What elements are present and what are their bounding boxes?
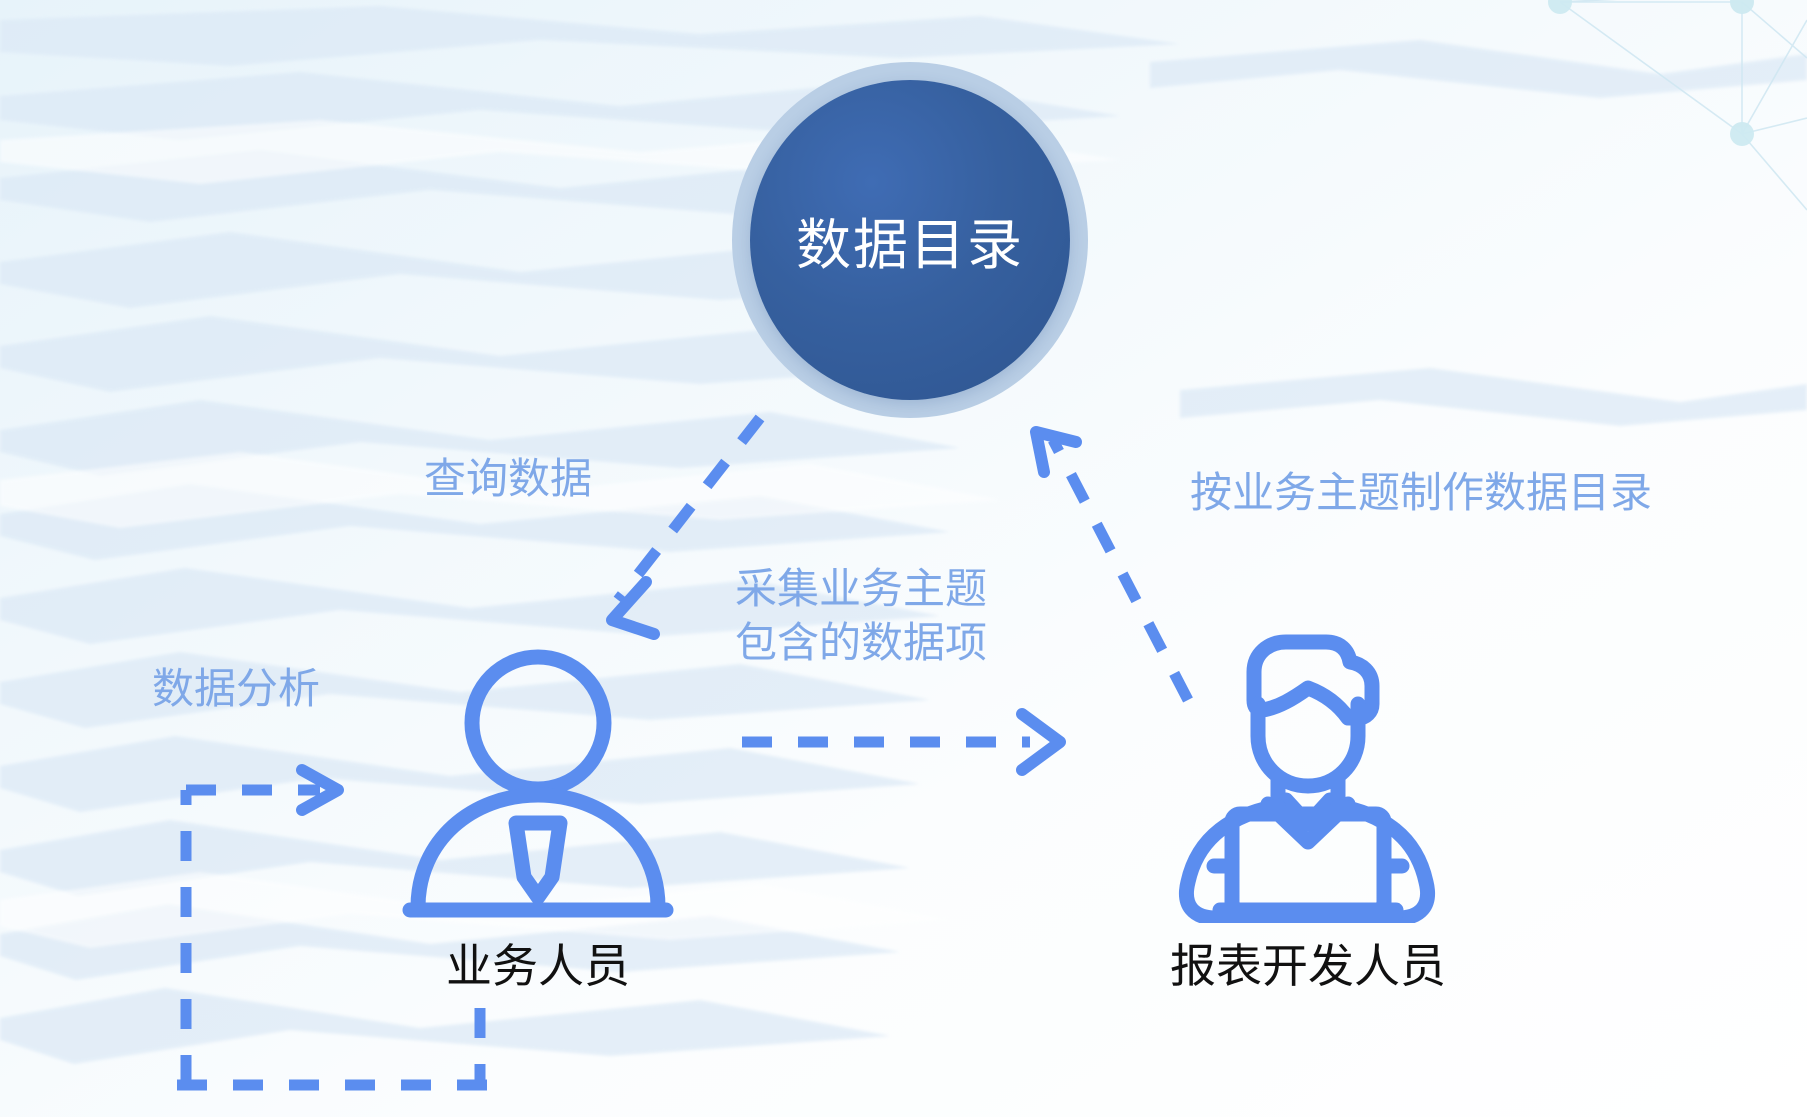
business-user-icon-wrap[interactable]	[398, 645, 678, 920]
person-with-tie-icon	[398, 645, 678, 920]
diagram-canvas: 数据目录	[0, 0, 1807, 1117]
report-developer-icon-wrap[interactable]	[1158, 618, 1458, 923]
connector-edges	[0, 0, 1807, 1117]
report-developer-label: 报表开发人员	[1108, 930, 1508, 996]
arrowhead-query-data	[612, 582, 654, 634]
edge-label-collect-items-line2: 包含的数据项	[735, 616, 1055, 670]
business-user-label: 业务人员	[398, 930, 678, 996]
person-with-laptop-icon	[1158, 618, 1458, 923]
edge-label-collect-items-line1: 采集业务主题	[735, 562, 1055, 616]
edge-label-query-data: 查询数据	[424, 452, 592, 506]
edge-label-data-analysis: 数据分析	[152, 662, 320, 716]
edge-label-collect-items: 采集业务主题 包含的数据项	[735, 562, 1055, 670]
edge-label-build-catalog: 按业务主题制作数据目录	[1190, 466, 1652, 520]
